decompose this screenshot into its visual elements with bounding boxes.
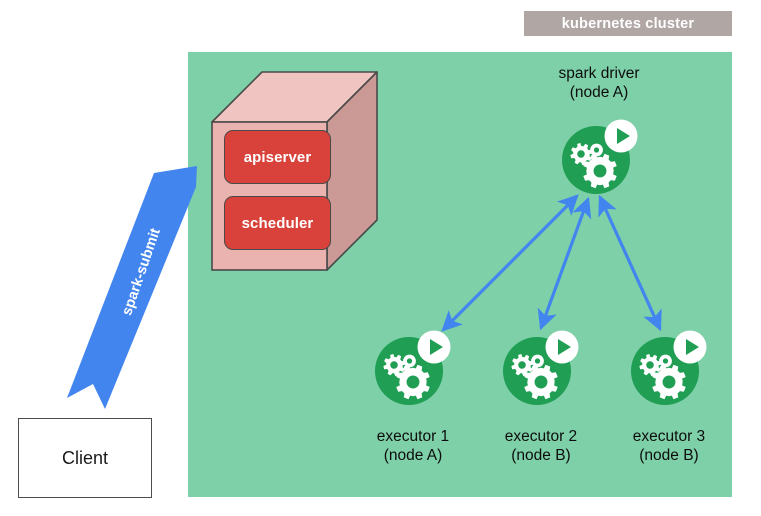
executor-2-label: executor 2 (node B) bbox=[476, 427, 606, 465]
apiserver-box[interactable]: apiserver bbox=[224, 130, 331, 184]
executor-3-label: executor 3 (node B) bbox=[604, 427, 734, 465]
scheduler-box[interactable]: scheduler bbox=[224, 196, 331, 250]
spark-driver-label: spark driver (node A) bbox=[519, 64, 679, 102]
spark-submit-arrow bbox=[67, 166, 197, 409]
kubernetes-cluster-badge: kubernetes cluster bbox=[524, 11, 732, 36]
executor-1-label: executor 1 (node A) bbox=[348, 427, 478, 465]
client-box[interactable]: Client bbox=[18, 418, 152, 498]
